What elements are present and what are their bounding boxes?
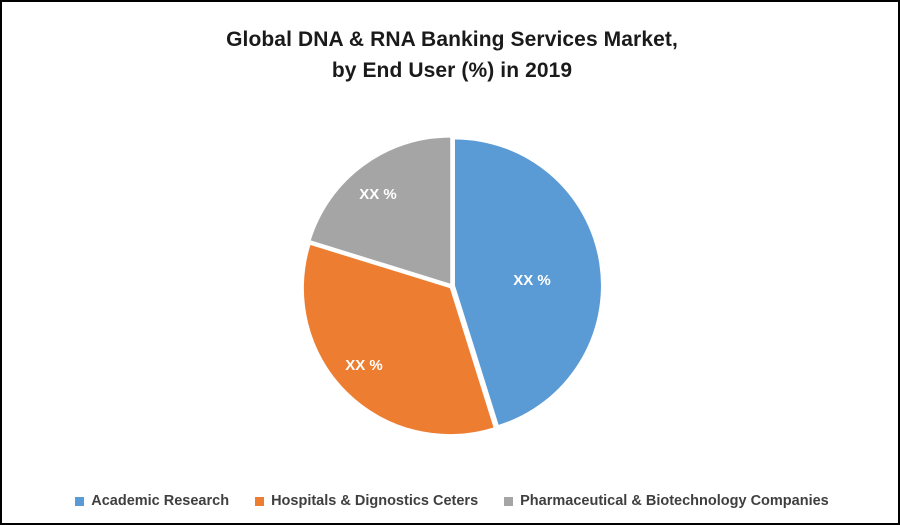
legend-swatch-icon	[255, 497, 264, 506]
legend-item-pharmaceutical-biotechnology-companies[interactable]: Pharmaceutical & Biotechnology Companies	[504, 493, 829, 509]
legend-item-label: Academic Research	[91, 493, 229, 509]
pie-plot-area: XX % XX % XX %	[2, 2, 900, 472]
chart-container: Global DNA & RNA Banking Services Market…	[0, 0, 900, 525]
chart-legend: Academic Research Hospitals & Dignostics…	[2, 493, 900, 509]
pie-slice-label-pharmaceutical-biotechnology-companies: XX %	[359, 186, 397, 203]
legend-item-label: Pharmaceutical & Biotechnology Companies	[520, 493, 829, 509]
pie-slice-label-hospitals-diagnostics-centers: XX %	[345, 357, 383, 374]
legend-swatch-icon	[504, 497, 513, 506]
legend-swatch-icon	[75, 497, 84, 506]
legend-item-academic-research[interactable]: Academic Research	[75, 493, 229, 509]
legend-item-hospitals-diagnostics-centers[interactable]: Hospitals & Dignostics Ceters	[255, 493, 478, 509]
legend-item-label: Hospitals & Dignostics Ceters	[271, 493, 478, 509]
pie-slice-label-academic-research: XX %	[513, 272, 551, 289]
pie-chart-svg: XX % XX % XX %	[2, 2, 900, 472]
